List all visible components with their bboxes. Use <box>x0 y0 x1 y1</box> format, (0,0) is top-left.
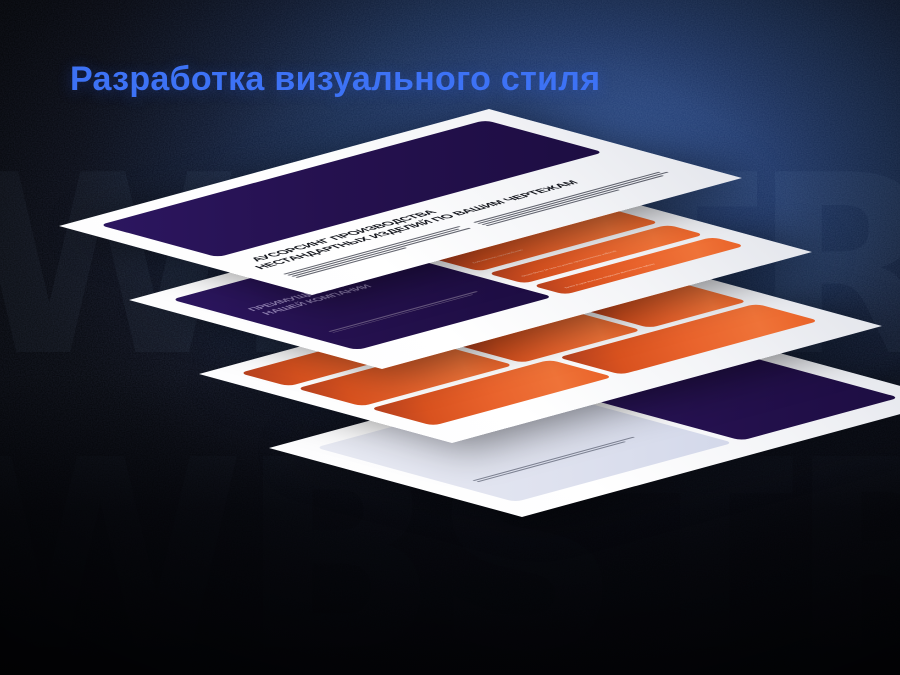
page-title: Разработка визуального стиля <box>70 60 600 99</box>
closing-body-text <box>472 435 649 483</box>
advantage-card-label: Собственное производство <box>471 249 525 264</box>
slide-stack: ПРЕИМУЩЕСТВА НАШЕЙ КОМПАНИИ Срок выполне… <box>0 0 900 675</box>
advantages-body-text <box>328 289 492 334</box>
